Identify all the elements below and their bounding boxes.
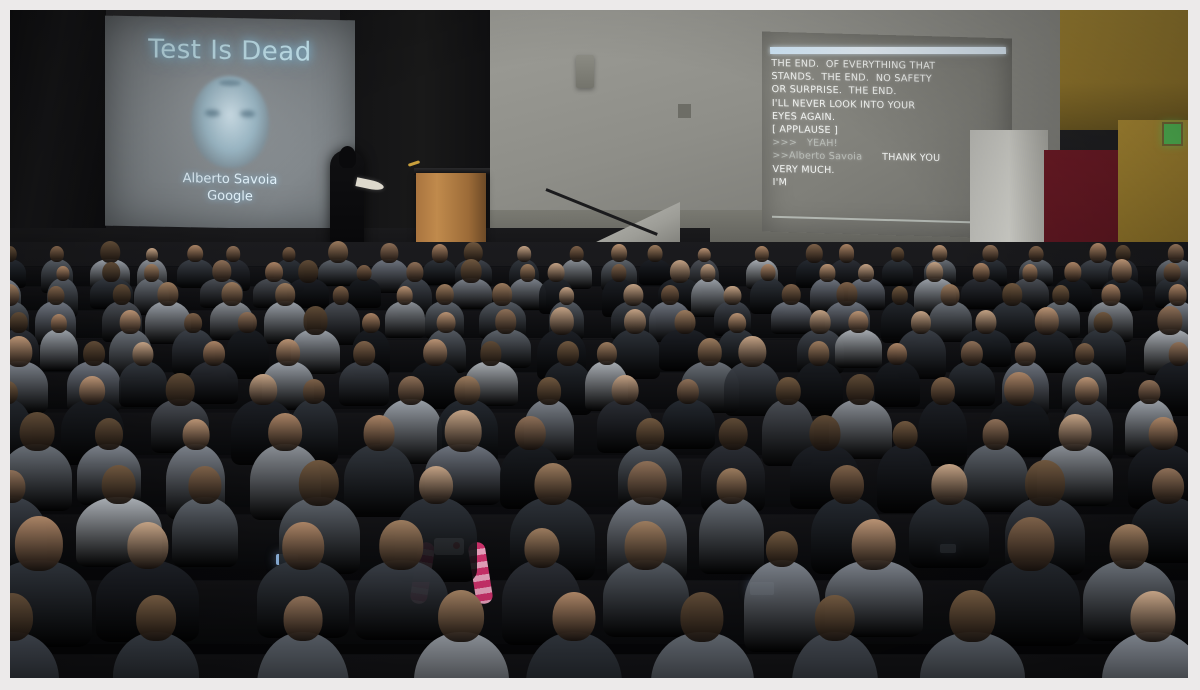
caption-window-title-bar <box>770 47 1006 54</box>
audience-member-head <box>982 419 1009 450</box>
audience-member-head <box>189 466 222 504</box>
audience-member-head <box>670 260 690 283</box>
audience-member <box>348 278 381 308</box>
audience-member-head <box>926 262 944 282</box>
audience-member-head <box>438 590 484 642</box>
ghostly-portrait-icon <box>191 75 269 168</box>
audience-member-head <box>493 283 513 305</box>
audience-member <box>744 560 821 652</box>
audience-member-head <box>396 286 413 305</box>
audience-member-head <box>941 284 960 306</box>
audience-member-head <box>455 376 480 405</box>
audience-member-head <box>550 307 574 335</box>
stage-curtain-left <box>10 10 106 260</box>
audience-member-head <box>51 314 67 333</box>
audience-member-head <box>275 283 295 305</box>
audience-member <box>344 444 414 518</box>
audience-member <box>385 301 425 337</box>
audience-member-head <box>517 246 531 262</box>
projector-mount-bracket-icon <box>678 104 691 118</box>
audience-member-head <box>100 241 120 263</box>
audience-member-head <box>983 245 998 262</box>
audience-member-head <box>480 341 501 365</box>
audience-member-head <box>729 313 747 333</box>
audience-member-head <box>1168 342 1188 365</box>
audience-area <box>10 242 1188 678</box>
audience-member <box>603 560 689 637</box>
audience-member-head <box>559 287 575 305</box>
audience-member-head <box>553 592 596 641</box>
audience-member-head <box>820 264 835 281</box>
audience-member-head <box>1075 377 1099 404</box>
slide-title: Test Is Dead <box>105 34 355 69</box>
audience-member-head <box>612 375 639 406</box>
audience-member-head <box>265 262 283 282</box>
audience-member-head <box>1149 417 1178 450</box>
audience-member-head <box>19 412 54 452</box>
audience-member-head <box>887 343 907 366</box>
audience-member <box>189 361 238 404</box>
audience-member-head <box>182 419 209 450</box>
audience-member <box>961 278 1002 309</box>
audience-member <box>40 329 79 371</box>
audience-member-head <box>700 264 715 281</box>
audience-member-head <box>698 248 710 262</box>
audience-member-head <box>283 247 296 262</box>
audience-member <box>909 497 989 568</box>
audience-member-head <box>332 286 348 305</box>
audience-member-head <box>158 282 179 306</box>
audience-member-head <box>10 246 16 262</box>
audience-member-head <box>1022 264 1037 281</box>
audience-member <box>119 361 167 407</box>
audience-member-head <box>406 262 423 282</box>
audience-member-head <box>120 310 141 334</box>
wall-speaker-icon <box>576 55 594 88</box>
audience-member-head <box>810 310 831 334</box>
audience-member-head <box>515 416 545 451</box>
audience-member <box>339 361 390 406</box>
audience-member-head <box>276 339 300 366</box>
audience-member <box>981 560 1080 646</box>
audience-member-head <box>739 336 766 367</box>
audience-member-head <box>146 248 158 262</box>
audience-member-head <box>766 531 798 568</box>
audience-member-head <box>221 282 242 306</box>
audience-member-head <box>1035 307 1059 335</box>
audience-member-head <box>79 376 105 405</box>
audience-member-head <box>188 245 204 263</box>
audience-member-head <box>716 468 747 503</box>
audience-member-head <box>298 260 318 282</box>
audience-member-head <box>809 415 840 451</box>
audience-member-head <box>1058 414 1091 451</box>
audience-member-head <box>858 264 874 282</box>
audience-member-head <box>380 520 423 570</box>
audience-member-head <box>303 306 328 334</box>
exit-sign-icon <box>1162 122 1183 146</box>
audience-member <box>963 444 1027 513</box>
audience-member-head <box>1168 244 1184 263</box>
audience-member <box>172 497 238 568</box>
audience-member-head <box>1110 524 1149 569</box>
audience-member-head <box>815 595 855 641</box>
audience-member-head <box>892 286 908 305</box>
audience-member <box>882 259 914 286</box>
audience-member-head <box>495 309 517 334</box>
audience-member-head <box>283 596 322 640</box>
audience-member-head <box>636 418 664 449</box>
screenshot-root: Test Is Dead Alberto Savoia Google THE E… <box>0 0 1200 690</box>
audience-member-head <box>611 264 626 281</box>
audience-member-head <box>362 313 380 333</box>
audience-member-head <box>102 262 120 282</box>
audience-member-head <box>569 246 584 263</box>
audience-member-head <box>1003 283 1022 305</box>
audience-member-head <box>1093 312 1112 333</box>
audience-member-head <box>1025 460 1065 506</box>
audience-member-head <box>132 342 153 366</box>
audience-member-head <box>755 246 769 262</box>
audience-member <box>423 259 457 285</box>
audience-member-head <box>1075 343 1095 365</box>
audience-member-head <box>212 260 231 282</box>
audience-member-head <box>891 247 905 262</box>
audience-member-head <box>839 244 855 262</box>
audience-member-head <box>624 521 667 570</box>
audience-member-head <box>724 286 741 306</box>
audience-member-head <box>677 379 699 404</box>
audience-member-head <box>144 264 160 282</box>
audience-member-head <box>524 528 559 568</box>
audience-member-head <box>547 263 564 282</box>
audience-member-head <box>624 284 643 306</box>
audience-member-head <box>10 312 28 333</box>
audience-member-head <box>436 312 455 333</box>
audience-member-head <box>1157 306 1182 335</box>
audience-member-head <box>1101 284 1120 306</box>
audience-member <box>355 560 448 639</box>
audience-member-head <box>761 264 776 281</box>
audience-member-head <box>269 413 303 451</box>
audience-member-head <box>849 311 868 333</box>
audience-member-head <box>628 461 667 505</box>
audience-member-head <box>719 418 748 451</box>
audience-member-head <box>328 241 348 264</box>
grim-reaper-performer <box>330 150 364 255</box>
audience-member-head <box>357 265 372 282</box>
audience-member-head <box>47 286 64 305</box>
audience-member-head <box>892 421 917 449</box>
audience-member-head <box>50 246 64 262</box>
audience-member-head <box>837 282 858 306</box>
audience-member-head <box>113 284 131 305</box>
audience-member-head <box>461 259 482 283</box>
audience-member-head <box>782 284 801 305</box>
audience-member-head <box>1090 243 1107 262</box>
audience-member-head <box>537 377 561 404</box>
audience-member-head <box>226 246 240 262</box>
reaper-hood <box>339 146 356 168</box>
portrait-mouth <box>219 80 241 86</box>
audience-member-head <box>1163 263 1180 282</box>
audience-member-head <box>56 266 69 281</box>
audience-member-head <box>975 310 996 334</box>
audience-member-head <box>398 376 424 406</box>
audience-member-head <box>932 245 948 263</box>
caption-line-trailing: THANK YOU <box>862 152 940 164</box>
audience-member-head <box>282 522 324 569</box>
audience-member-head <box>1112 259 1132 282</box>
audience-member-head <box>1052 285 1069 305</box>
audience-member-head <box>911 311 931 334</box>
audience-member-head <box>136 595 176 640</box>
slide-credit: Alberto Savoia Google <box>105 169 355 209</box>
audience-member-head <box>675 310 696 334</box>
auditorium-photo: Test Is Dead Alberto Savoia Google THE E… <box>10 10 1188 678</box>
audience-member-head <box>960 341 982 366</box>
audience-member-head <box>830 465 864 504</box>
audience-member-head <box>166 373 195 406</box>
audience-member-head <box>83 341 105 366</box>
audience-member-head <box>973 263 990 282</box>
audience-member-head <box>353 341 375 366</box>
audience-member-head <box>419 466 453 505</box>
audience-member-head <box>520 264 536 282</box>
audience-member-head <box>776 377 800 405</box>
audience-member-head <box>557 341 579 366</box>
audience-member-head <box>303 379 325 404</box>
audience-member-head <box>698 338 722 366</box>
audience-member-head <box>1130 591 1175 642</box>
audience-member-head <box>611 244 627 262</box>
audience-member-head <box>1015 342 1035 365</box>
audience-member-head <box>299 460 339 506</box>
audience-member-head <box>1139 380 1160 404</box>
audience-member <box>699 497 764 574</box>
audience-member-head <box>102 465 137 504</box>
audience-member-head <box>364 415 395 450</box>
caption-divider <box>772 216 1000 224</box>
audience-member-head <box>203 341 225 366</box>
audience-member-head <box>624 309 646 334</box>
audience-member-head <box>15 516 63 571</box>
audience-member <box>662 399 715 449</box>
audience-member-head <box>95 418 123 450</box>
audience-member-head <box>436 284 454 305</box>
audience-member <box>835 329 883 367</box>
audience-member-head <box>381 243 398 263</box>
audience-member-head <box>1064 262 1081 282</box>
audience-member <box>948 361 995 406</box>
audience-member-head <box>423 339 447 366</box>
speaker-org: Google <box>105 186 355 208</box>
presentation-screen: Test Is Dead Alberto Savoia Google <box>105 16 355 231</box>
audience-member-head <box>808 341 829 365</box>
wood-wall-panel-top <box>1060 10 1188 130</box>
audience-member-head <box>648 245 663 262</box>
audience-member-head <box>852 519 897 570</box>
audience-member-head <box>431 244 447 263</box>
audience-member-head <box>185 313 203 333</box>
audience-member-head <box>661 285 679 305</box>
audience-member-head <box>1007 517 1054 571</box>
audience-member-head <box>249 374 277 405</box>
photo-alt-text: Dark lecture hall seen from the back, fu… <box>0 0 1 1</box>
audience-member-head <box>932 464 967 504</box>
audience-member-head <box>1152 468 1184 504</box>
audience-member-head <box>596 342 616 365</box>
audience-member-head <box>806 244 822 263</box>
audience-member-head <box>931 377 955 405</box>
audience-member-head <box>847 374 875 406</box>
audience-member <box>875 361 919 407</box>
audience-member-head <box>950 590 995 642</box>
audience-member-head <box>1168 284 1187 305</box>
audience-member-head <box>1029 246 1044 263</box>
audience-member-head <box>127 522 168 569</box>
audience-member-head <box>445 410 482 452</box>
audience-member-head <box>681 592 724 641</box>
audience-member <box>771 301 812 334</box>
audience-member-head <box>238 312 256 333</box>
audience-member-head <box>10 336 32 367</box>
audience-member-head <box>1004 372 1034 406</box>
audience-member-head <box>534 463 571 505</box>
